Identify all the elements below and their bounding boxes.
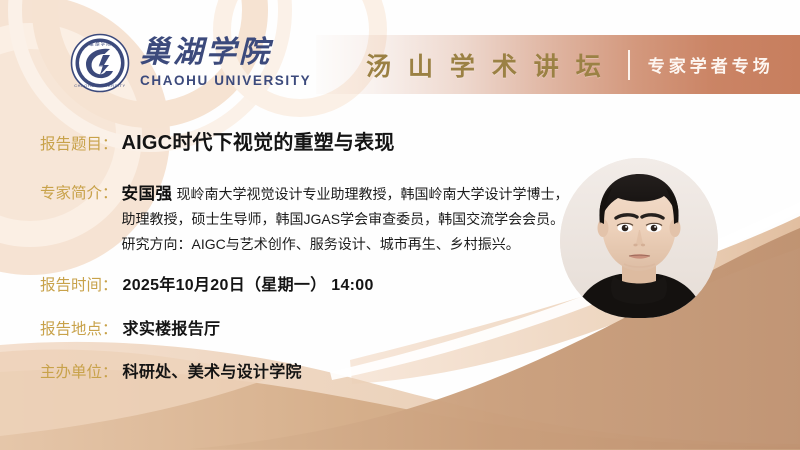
topic-value: AIGC时代下视觉的重塑与表现	[122, 130, 395, 156]
speaker-name: 安国强	[122, 185, 173, 203]
speaker-bio: 安国强现岭南大学视觉设计专业助理教授，韩国岭南大学设计学博士， 助理教授，硕士生…	[122, 182, 569, 257]
logo-name-en: CHAOHU UNIVERSITY	[140, 74, 311, 88]
speaker-portrait	[560, 158, 718, 318]
logo-name-cn: 巢湖学院	[140, 38, 311, 68]
banner-divider	[628, 50, 630, 80]
speaker-bio-line-3: 研究方向：AIGC与艺术创作、服务设计、城市再生、乡村振兴。	[122, 232, 569, 257]
poster-content: 报告题目： AIGC时代下视觉的重塑与表现 专家简介： 安国强现岭南大学视觉设计…	[40, 130, 570, 401]
speaker-label: 专家简介：	[40, 182, 118, 205]
place-row: 报告地点： 求实楼报告厅	[40, 315, 570, 341]
time-value: 2025年10月20日（星期一） 14:00	[123, 271, 374, 295]
host-row: 主办单位： 科研处、美术与设计学院	[40, 358, 570, 384]
time-label: 报告时间：	[40, 274, 118, 297]
host-value: 科研处、美术与设计学院	[123, 358, 302, 382]
place-value: 求实楼报告厅	[123, 315, 221, 339]
svg-text:巢 湖 学 院: 巢 湖 学 院	[89, 41, 111, 48]
topic-row: 报告题目： AIGC时代下视觉的重塑与表现	[40, 130, 570, 156]
speaker-bio-text-1: 现岭南大学视觉设计专业助理教授，韩国岭南大学设计学博士，	[177, 186, 569, 202]
university-seal-icon: 巢 湖 学 院 CHAOHU UNIVERSITY 1977	[70, 33, 130, 93]
topic-label: 报告题目：	[40, 133, 118, 156]
university-logo: 巢 湖 学 院 CHAOHU UNIVERSITY 1977 巢湖学院 CHAO…	[70, 33, 311, 93]
banner-title: 汤 山 学 术 讲 坛	[366, 47, 606, 83]
speaker-bio-line-2: 助理教授，硕士生导师，韩国JGAS学会审查委员，韩国交流学会会员。	[122, 207, 569, 232]
svg-text:1977: 1977	[97, 65, 103, 69]
place-label: 报告地点：	[40, 318, 118, 341]
forum-banner: 汤 山 学 术 讲 坛 专家学者专场	[316, 35, 800, 94]
seminar-poster: 巢 湖 学 院 CHAOHU UNIVERSITY 1977 巢湖学院 CHAO…	[0, 0, 800, 450]
svg-text:CHAOHU UNIVERSITY: CHAOHU UNIVERSITY	[74, 83, 126, 88]
speaker-bio-line-1: 安国强现岭南大学视觉设计专业助理教授，韩国岭南大学设计学博士，	[122, 182, 569, 207]
banner-subtitle: 专家学者专场	[648, 52, 774, 77]
speaker-row: 专家简介： 安国强现岭南大学视觉设计专业助理教授，韩国岭南大学设计学博士， 助理…	[40, 182, 570, 257]
host-label: 主办单位：	[40, 361, 118, 384]
speaker-portrait-image	[560, 158, 718, 318]
time-row: 报告时间： 2025年10月20日（星期一） 14:00	[40, 271, 570, 297]
